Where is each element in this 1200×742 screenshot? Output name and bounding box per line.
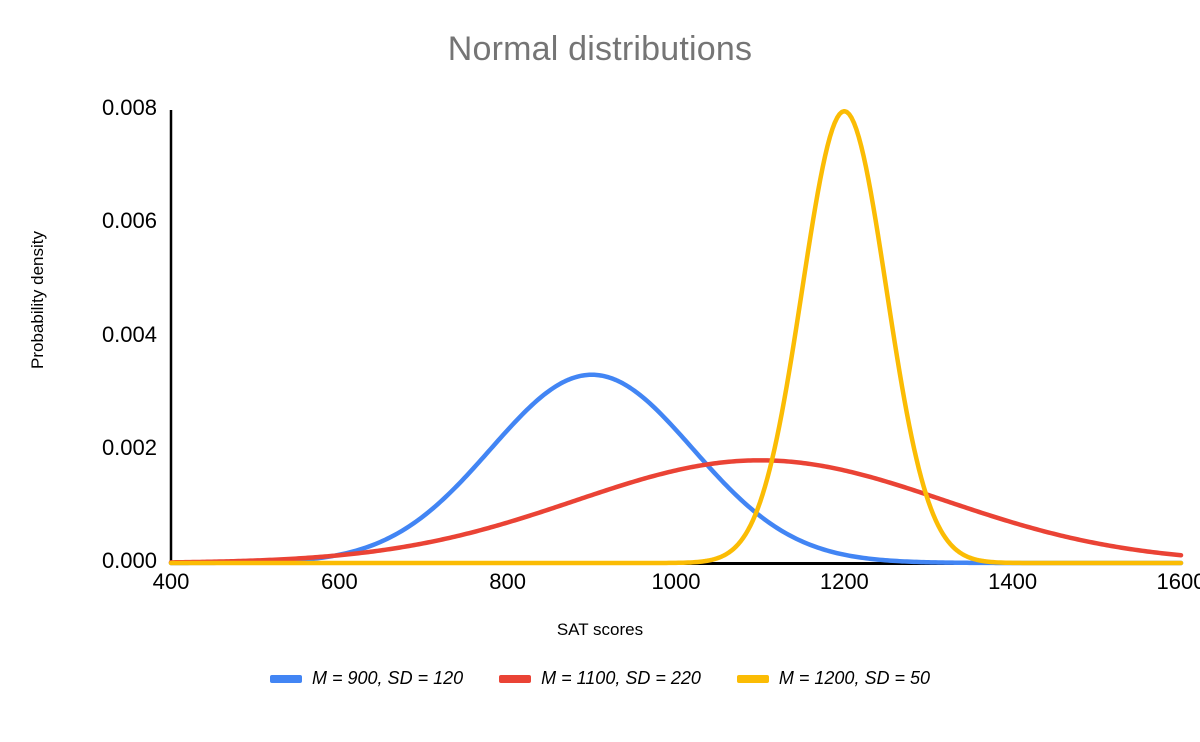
y-tick-label: 0.004	[47, 322, 157, 348]
legend-item[interactable]: M = 1200, SD = 50	[737, 668, 930, 689]
plot-area	[0, 0, 1200, 742]
legend-label: M = 900, SD = 120	[312, 668, 463, 689]
legend-item[interactable]: M = 900, SD = 120	[270, 668, 463, 689]
legend-swatch-icon	[270, 675, 302, 683]
x-tick-label: 600	[279, 569, 399, 595]
x-tick-label: 1200	[784, 569, 904, 595]
series-curves	[171, 111, 1181, 563]
y-tick-label: 0.002	[47, 435, 157, 461]
series-curve	[171, 111, 1181, 563]
chart-container: Normal distributions Probability density…	[0, 0, 1200, 742]
series-curve	[171, 460, 1181, 562]
legend-swatch-icon	[499, 675, 531, 683]
legend-swatch-icon	[737, 675, 769, 683]
legend-item[interactable]: M = 1100, SD = 220	[499, 668, 701, 689]
y-tick-label: 0.006	[47, 208, 157, 234]
x-tick-label: 800	[448, 569, 568, 595]
x-tick-label: 400	[111, 569, 231, 595]
axes	[171, 110, 1181, 564]
legend-label: M = 1200, SD = 50	[779, 668, 930, 689]
y-tick-label: 0.008	[47, 95, 157, 121]
legend-label: M = 1100, SD = 220	[541, 668, 701, 689]
x-tick-label: 1600	[1121, 569, 1200, 595]
chart-legend: M = 900, SD = 120M = 1100, SD = 220M = 1…	[0, 668, 1200, 689]
x-tick-label: 1400	[953, 569, 1073, 595]
x-tick-label: 1000	[616, 569, 736, 595]
